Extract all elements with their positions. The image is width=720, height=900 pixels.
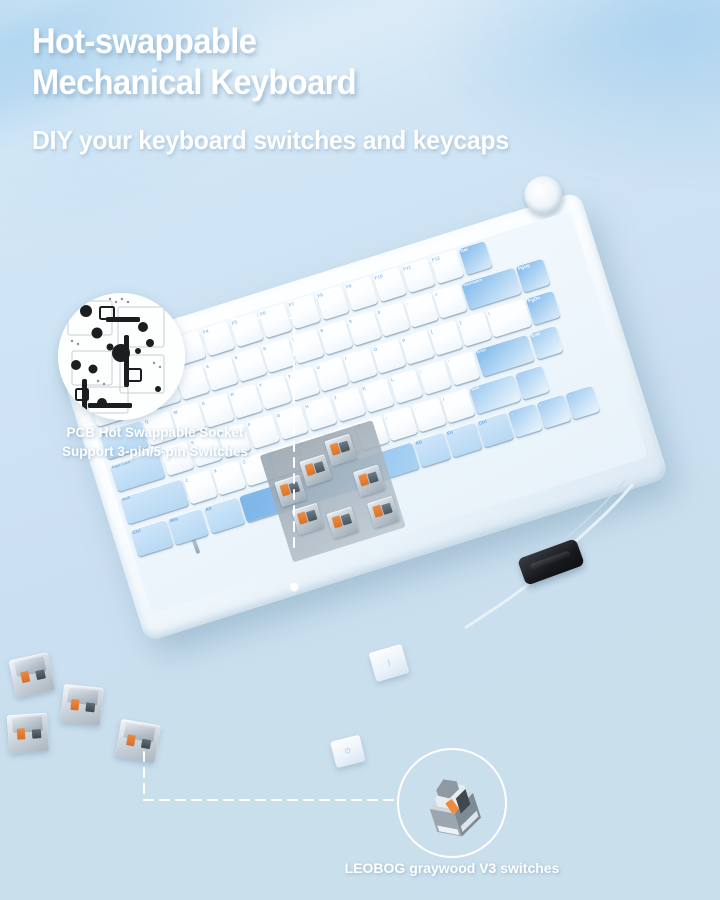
key-h[interactable]: H <box>303 396 338 431</box>
switch-connector-line <box>136 748 406 816</box>
key-ctrl[interactable]: Ctrl <box>130 519 173 557</box>
key-legend: = <box>434 292 438 298</box>
key-f9[interactable]: F9 <box>344 276 379 311</box>
key-legend: I <box>344 356 347 361</box>
key-legend: L <box>390 377 394 383</box>
key-legend: \ <box>487 311 490 316</box>
key-legend: 9 <box>348 319 352 325</box>
key-l[interactable]: L <box>389 369 424 404</box>
key-legend: F10 <box>374 274 383 281</box>
key-legend: End <box>531 331 541 338</box>
key-[interactable]: \ <box>486 299 532 337</box>
loose-switch[interactable] <box>60 684 104 726</box>
key-legend: Alt <box>415 439 423 446</box>
key-legend: ; <box>419 368 422 373</box>
key-legend: Shift <box>471 386 480 392</box>
key-legend: PgDn <box>528 295 541 303</box>
key-legend: , <box>385 415 388 420</box>
key-legend: F11 <box>403 265 412 272</box>
headline-block: Hot-swappable Mechanical Keyboard DIY yo… <box>32 22 672 156</box>
headline: Hot-swappable Mechanical Keyboard <box>32 22 627 103</box>
key-[interactable]: ; <box>417 360 452 395</box>
key-legend: ] <box>459 320 462 325</box>
headline-line-2: Mechanical Keyboard <box>32 63 356 102</box>
pcb-caption-line-2: Support 3-pin/5-pin Switches <box>10 442 300 461</box>
exposed-switch[interactable] <box>326 506 359 539</box>
key-legend: Del <box>460 247 469 254</box>
switch-callout-caption: LEOBOG graywood V3 switches <box>337 860 567 876</box>
key-[interactable]: ↑ <box>515 365 550 400</box>
key-legend: ↓ <box>538 402 542 407</box>
key-pgdn[interactable]: PgDn <box>526 290 561 325</box>
key-legend: F8 <box>317 292 324 298</box>
key-f11[interactable]: F11 <box>401 258 436 293</box>
key-legend: F9 <box>345 283 352 289</box>
key-legend: 0 <box>377 310 381 316</box>
key-[interactable]: → <box>565 385 600 420</box>
key-legend: . <box>413 406 416 411</box>
exposed-switch[interactable] <box>353 464 386 497</box>
key-legend: Ctrl <box>132 528 141 535</box>
loose-switch[interactable] <box>7 713 50 754</box>
key-legend: U <box>316 365 321 371</box>
key-f10[interactable]: F10 <box>372 267 407 302</box>
key-legend: F7 <box>288 301 295 307</box>
key-legend: → <box>567 392 573 398</box>
switch-callout: LEOBOG graywood V3 switches <box>397 748 507 858</box>
pcb-callout-caption: PCB Hot Swappable Socket Support 3-pin/5… <box>10 423 300 461</box>
product-banner: Hot-swappable Mechanical Keyboard DIY yo… <box>0 0 720 900</box>
pcb-connector-endpoint <box>290 583 298 591</box>
key-pgup[interactable]: PgUp <box>515 258 550 293</box>
key-legend: ↑ <box>516 373 520 378</box>
exposed-switch[interactable] <box>324 434 357 467</box>
key-legend: 8 <box>320 328 324 334</box>
key-f8[interactable]: F8 <box>315 285 350 320</box>
key-del[interactable]: Del <box>458 240 493 275</box>
loose-switch[interactable] <box>8 652 55 697</box>
exposed-switch[interactable] <box>367 496 400 529</box>
headline-line-1: Hot-swappable <box>32 22 256 61</box>
pcb-socket-icon <box>58 293 185 420</box>
key-legend: P <box>402 338 407 344</box>
key-ctrl[interactable]: Ctrl <box>476 412 514 448</box>
pcb-callout: PCB Hot Swappable Socket Support 3-pin/5… <box>58 293 185 420</box>
key-legend: [ <box>430 329 433 334</box>
pcb-caption-line-1: PCB Hot Swappable Socket <box>10 423 300 442</box>
key-legend: J <box>333 395 337 401</box>
key-f12[interactable]: F12 <box>429 249 464 284</box>
subtitle: DIY your keyboard switches and keycaps <box>32 125 640 156</box>
key-legend: / <box>442 397 445 402</box>
switch-closeup-icon <box>397 748 507 858</box>
key-[interactable]: ' <box>446 351 481 386</box>
key-legend: O <box>373 347 378 353</box>
key-legend: Shift <box>122 496 131 502</box>
key-legend: Enter <box>476 348 486 355</box>
key-legend: Caps Lock <box>111 460 130 470</box>
key-legend: Ctrl <box>478 419 487 426</box>
key-fn[interactable]: Fn <box>445 422 483 458</box>
key-legend: PgUp <box>517 263 530 271</box>
key-legend: ' <box>448 359 451 364</box>
key-legend: K <box>362 386 367 392</box>
keycap-legend: | <box>387 659 391 666</box>
key-legend: ← <box>510 410 516 416</box>
key-legend: - <box>406 301 409 306</box>
key-legend: F12 <box>431 256 440 263</box>
key-alt[interactable]: Alt <box>413 431 451 467</box>
key-k[interactable]: K <box>360 378 395 413</box>
key-j[interactable]: J <box>331 387 366 422</box>
key-legend: Fn <box>447 430 454 437</box>
key-end[interactable]: End <box>529 325 564 360</box>
key-legend: Backspace <box>463 278 483 288</box>
